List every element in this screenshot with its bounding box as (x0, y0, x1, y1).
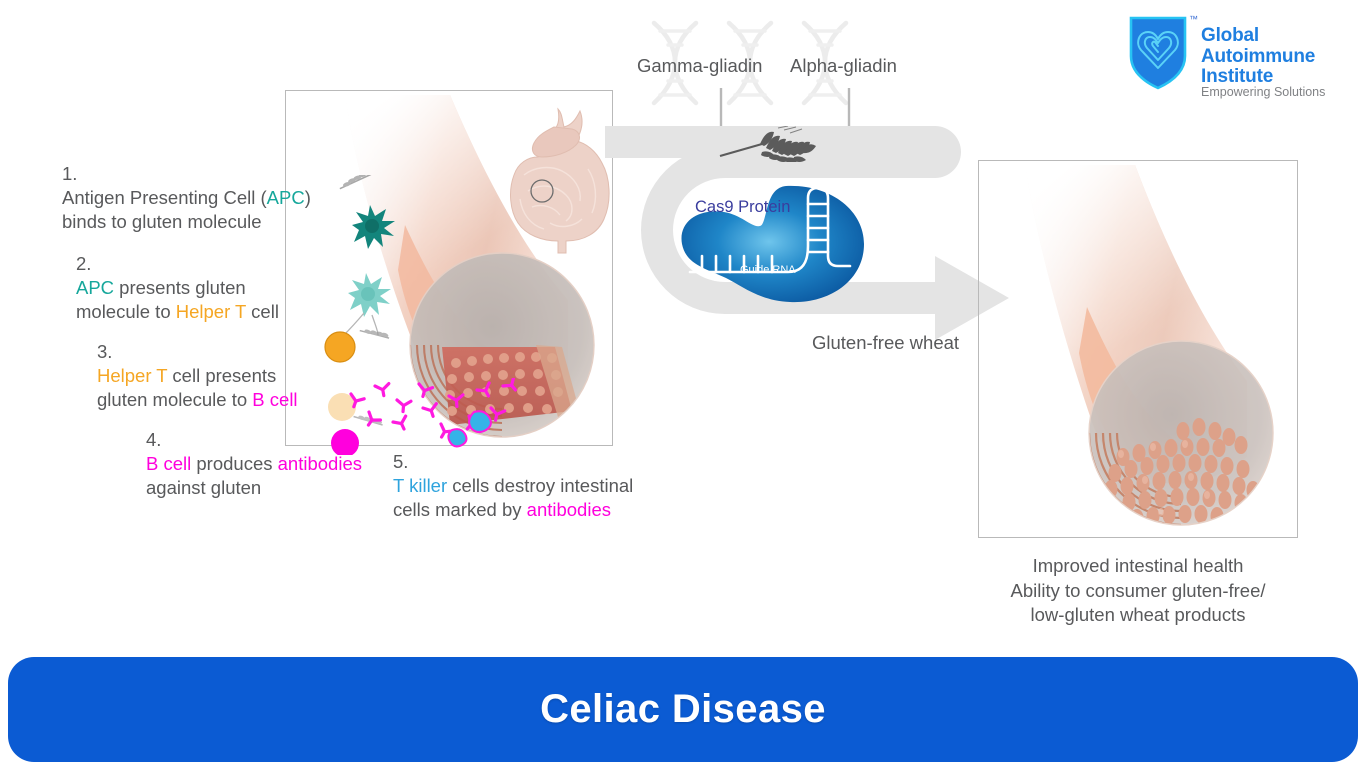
banner-title-text: Celiac Disease (540, 687, 826, 732)
step-3-b-cell-term: B cell (252, 389, 297, 410)
step-4-antibodies-term: antibodies (278, 453, 362, 474)
step-5-line2-a: cells marked by (393, 499, 527, 520)
step-2-line2-a: molecule to (76, 301, 176, 322)
step-5-line1-b: cells destroy intestinal (447, 475, 633, 496)
step-3-number: 3. (97, 340, 298, 364)
step-4-b-cell-term: B cell (146, 453, 191, 474)
caption-line-1: Improved intestinal health (978, 554, 1298, 579)
helper-t-cell (325, 332, 355, 362)
step-5-number: 5. (393, 450, 633, 474)
step-4-line2: against gluten (146, 477, 261, 498)
step-2-helper-t-term: Helper T (176, 301, 246, 322)
t-killer-cells (442, 408, 512, 456)
trademark-symbol: ™ (1189, 14, 1198, 24)
step-1-number: 1. (62, 162, 311, 186)
right-panel-caption: Improved intestinal health Ability to co… (978, 554, 1298, 628)
step-1-line2: binds to gluten molecule (62, 211, 262, 232)
caption-line-2: Ability to consumer gluten-free/ (978, 579, 1298, 604)
step-2-number: 2. (76, 252, 279, 276)
title-banner: Celiac Disease (8, 657, 1358, 762)
apc-cell-dark (352, 205, 395, 249)
gluten-molecule-icon (337, 175, 372, 189)
step-1-apc-term: APC (267, 187, 305, 208)
gluten-free-wheat-label: Gluten-free wheat (812, 332, 959, 354)
apc-cell-light (348, 273, 391, 317)
step-2-text: 2. APC presents gluten molecule to Helpe… (76, 252, 279, 324)
caption-line-3: low-gluten wheat products (978, 603, 1298, 628)
healthy-intestine-illustration (995, 165, 1295, 545)
step-2-line1-b: presents gluten (114, 277, 246, 298)
logo-name-line-2: Autoimmune (1201, 47, 1315, 68)
step-3-line2-a: gluten molecule to (97, 389, 252, 410)
logo-organization-name: Global Autoimmune Institute (1201, 26, 1315, 88)
step-1-line1-c: ) (305, 187, 311, 208)
shield-heart-icon (1127, 12, 1189, 90)
cas9-protein-label: Cas9 Protein (695, 198, 790, 217)
step-2-apc-term: APC (76, 277, 114, 298)
alpha-gliadin-label: Alpha-gliadin (790, 55, 897, 77)
guide-rna-label: Guide RNA (740, 264, 796, 276)
step-3-helper-t-term: Helper T (97, 365, 167, 386)
step-4-number: 4. (146, 428, 362, 452)
step-3-line1-b: cell presents (167, 365, 276, 386)
step-5-t-killer-term: T killer (393, 475, 447, 496)
step-5-antibodies-term: antibodies (527, 499, 611, 520)
step-2-line2-c: cell (246, 301, 279, 322)
wheat-stalk-icon (718, 126, 838, 162)
gamma-gliadin-label: Gamma-gliadin (637, 55, 762, 77)
step-1-line1-a: Antigen Presenting Cell ( (62, 187, 267, 208)
step-4-line1-b: produces (191, 453, 277, 474)
step-4-text: 4. B cell produces antibodies against gl… (146, 428, 362, 500)
organization-logo[interactable]: ™ Global Autoimmune Institute Empowering… (1127, 12, 1337, 100)
diagram-canvas: 1. Antigen Presenting Cell (APC) binds t… (0, 0, 1366, 768)
logo-name-line-1: Global (1201, 26, 1315, 47)
step-1-text: 1. Antigen Presenting Cell (APC) binds t… (62, 162, 311, 234)
logo-tagline: Empowering Solutions (1201, 85, 1325, 99)
step-3-text: 3. Helper T cell presents gluten molecul… (97, 340, 298, 412)
step-5-text: 5. T killer cells destroy intestinal cel… (393, 450, 633, 522)
